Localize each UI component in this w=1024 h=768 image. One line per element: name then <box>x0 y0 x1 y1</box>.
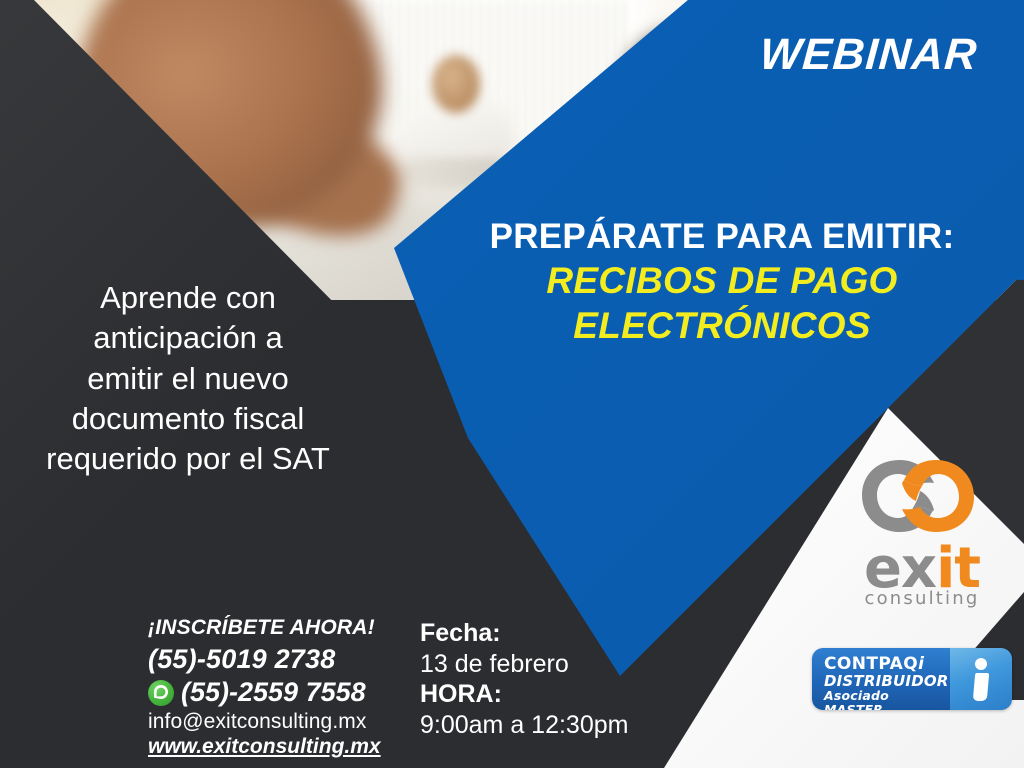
badge-line-2: DISTRIBUIDOR <box>824 673 950 689</box>
logo-tagline: consulting <box>842 588 1002 609</box>
time-value: 9:00am a 12:30pm <box>420 710 628 741</box>
webinar-poster: WEBINAR PREPÁRATE PARA EMITIR: RECIBOS D… <box>0 0 1024 768</box>
headline-line-1: PREPÁRATE PARA EMITIR: <box>438 218 1006 256</box>
badge-brand: CONTPAQ <box>824 654 918 674</box>
whatsapp-number: (55)-2559 7558 <box>181 677 366 708</box>
phone-number[interactable]: (55)-5019 2738 <box>148 644 398 675</box>
whatsapp-icon <box>148 680 174 706</box>
date-label: Fecha: <box>420 618 628 649</box>
standing-person-head <box>432 55 480 113</box>
badge-text-block: CONTPAQi DISTRIBUIDOR Asociado MASTER <box>812 648 950 710</box>
date-value: 13 de febrero <box>420 649 628 680</box>
lead-line-5: requerido por el SAT <box>10 439 366 479</box>
badge-i-dot <box>975 658 987 670</box>
headline-line-2: RECIBOS DE PAGO <box>438 261 1006 301</box>
time-label: HORA: <box>420 679 628 710</box>
lead-line-3: emitir el nuevo <box>10 359 366 399</box>
website-link[interactable]: www.exitconsulting.mx <box>148 735 398 759</box>
lead-line-4: documento fiscal <box>10 399 366 439</box>
contact-block: ¡INSCRÍBETE AHORA! (55)-5019 2738 (55)-2… <box>148 616 398 759</box>
schedule-block: Fecha: 13 de febrero HORA: 9:00am a 12:3… <box>420 618 628 740</box>
lead-line-2: anticipación a <box>10 318 366 358</box>
badge-line-1: CONTPAQi <box>824 655 950 673</box>
badge-i-glyph-icon <box>950 648 1012 710</box>
badge-i-stem <box>973 673 989 701</box>
lead-line-1: Aprende con <box>10 278 366 318</box>
register-cta-label: ¡INSCRÍBETE AHORA! <box>148 616 398 640</box>
whatsapp-row[interactable]: (55)-2559 7558 <box>148 677 398 708</box>
headline-line-3: ELECTRÓNICOS <box>438 306 1006 346</box>
badge-brand-i: i <box>918 654 924 674</box>
headline-block: PREPÁRATE PARA EMITIR: RECIBOS DE PAGO E… <box>438 218 1006 346</box>
lead-paragraph: Aprende con anticipación a emitir el nue… <box>10 278 366 479</box>
exit-knot-icon <box>856 450 980 542</box>
badge-line-3: Asociado MASTER <box>824 689 950 710</box>
email-address[interactable]: info@exitconsulting.mx <box>148 710 398 734</box>
contpaqi-distributor-badge: CONTPAQi DISTRIBUIDOR Asociado MASTER <box>812 648 1012 710</box>
exit-wordmark: exit <box>842 536 1002 588</box>
exit-consulting-logo: exit consulting <box>842 450 1002 610</box>
webinar-kicker: WEBINAR <box>758 30 979 80</box>
